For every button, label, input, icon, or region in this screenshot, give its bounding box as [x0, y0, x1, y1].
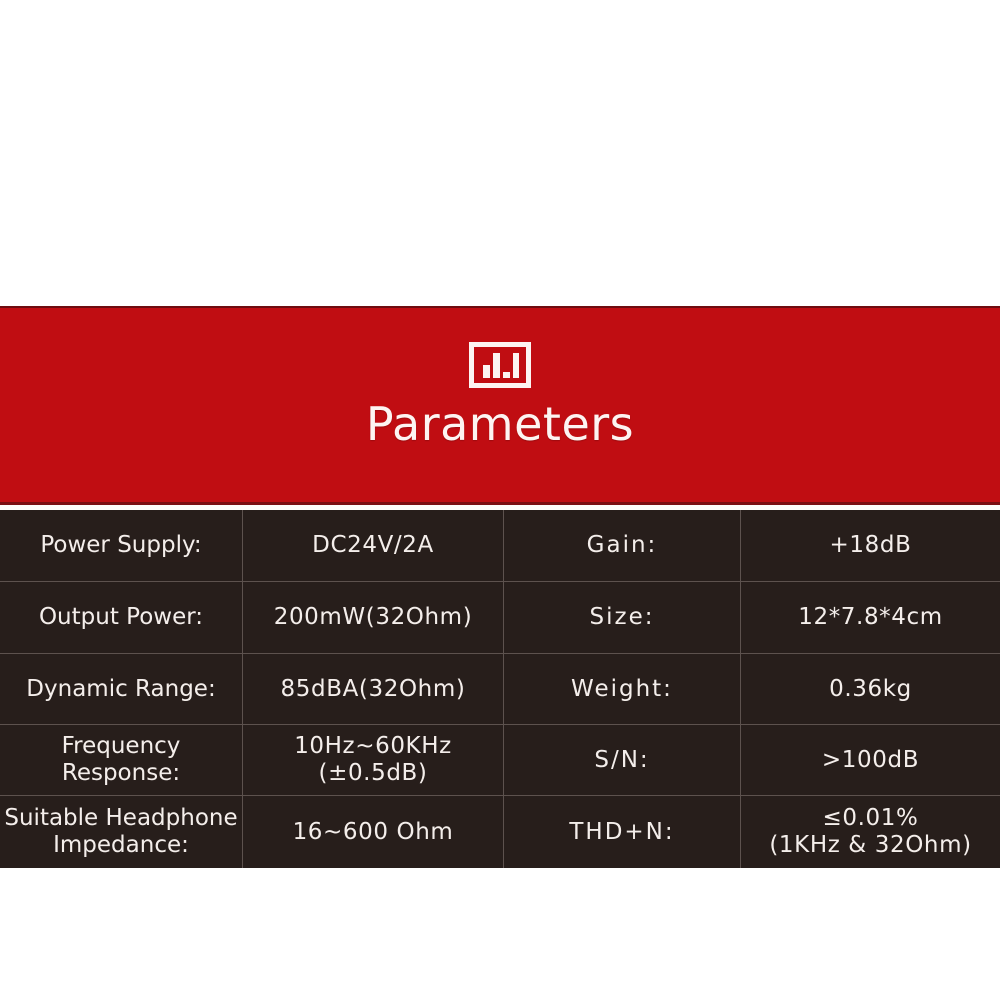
- spec-label-frequency-response-text: Frequency Response:: [62, 733, 181, 787]
- spec-value-signal-to-noise: >100dB: [741, 725, 1000, 795]
- spec-value-weight: 0.36kg: [741, 654, 1000, 724]
- spec-label-power-supply: Power Supply:: [0, 510, 243, 581]
- table-row: Frequency Response: 10Hz~60KHz (±0.5dB) …: [0, 725, 1000, 796]
- spec-label-thd-n: THD+N:: [504, 796, 741, 868]
- table-row: Power Supply: DC24V/2A Gain: +18dB: [0, 510, 1000, 582]
- spec-value-gain: +18dB: [741, 510, 1000, 581]
- bar-chart-icon: [469, 342, 531, 388]
- spec-label-size: Size:: [504, 582, 741, 653]
- spec-value-frequency-response-text: 10Hz~60KHz (±0.5dB): [294, 733, 452, 787]
- table-row: Output Power: 200mW(32Ohm) Size: 12*7.8*…: [0, 582, 1000, 654]
- spec-label-weight: Weight:: [504, 654, 741, 724]
- spec-value-thd-n-text: ≤0.01% (1KHz & 32Ohm): [769, 805, 971, 859]
- spec-label-output-power: Output Power:: [0, 582, 243, 653]
- spec-value-frequency-response: 10Hz~60KHz (±0.5dB): [243, 725, 504, 795]
- spec-value-output-power: 200mW(32Ohm): [243, 582, 504, 653]
- specifications-table: Power Supply: DC24V/2A Gain: +18dB Outpu…: [0, 510, 1000, 868]
- spec-label-signal-to-noise: S/N:: [504, 725, 741, 795]
- spec-label-headphone-impedance: Suitable Headphone Impedance:: [0, 796, 243, 868]
- spec-label-frequency-response: Frequency Response:: [0, 725, 243, 795]
- top-whitespace: [0, 0, 1000, 306]
- spec-value-thd-n: ≤0.01% (1KHz & 32Ohm): [741, 796, 1000, 868]
- parameters-page: Parameters Power Supply: DC24V/2A Gain: …: [0, 0, 1000, 1000]
- spec-value-headphone-impedance: 16~600 Ohm: [243, 796, 504, 868]
- table-row: Dynamic Range: 85dBA(32Ohm) Weight: 0.36…: [0, 654, 1000, 725]
- table-row: Suitable Headphone Impedance: 16~600 Ohm…: [0, 796, 1000, 868]
- spec-label-gain: Gain:: [504, 510, 741, 581]
- parameters-banner: Parameters: [0, 306, 1000, 505]
- spec-label-dynamic-range: Dynamic Range:: [0, 654, 243, 724]
- bottom-whitespace: [0, 868, 1000, 1000]
- page-title: Parameters: [366, 396, 634, 452]
- spec-label-headphone-impedance-text: Suitable Headphone Impedance:: [4, 805, 237, 859]
- spec-value-dynamic-range: 85dBA(32Ohm): [243, 654, 504, 724]
- spec-value-power-supply: DC24V/2A: [243, 510, 504, 581]
- spec-value-size: 12*7.8*4cm: [741, 582, 1000, 653]
